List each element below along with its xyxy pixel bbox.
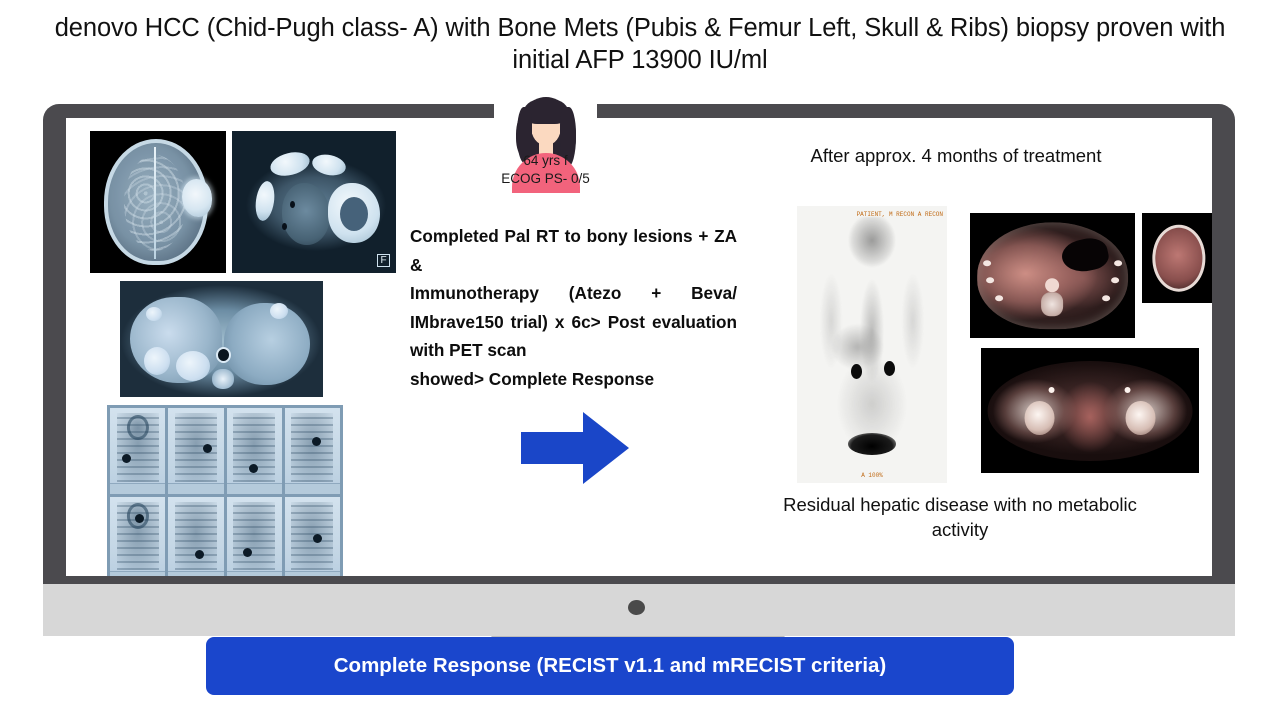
liver-vertebra <box>212 369 234 389</box>
patient-ecog-ps: ECOG PS- 0/5 <box>494 170 597 188</box>
residual-disease-label: Residual hepatic disease with no metabol… <box>776 493 1144 543</box>
pelvic-ct-image: F <box>232 131 396 273</box>
hepatic-lesion <box>146 307 162 321</box>
ct-orientation-marker: F <box>377 254 390 267</box>
patient-age-sex: 64 yrs f <box>494 152 597 170</box>
treatment-summary: Completed Pal RT to bony lesions + ZA & … <box>410 222 737 393</box>
ct-soft-tissue <box>282 183 330 245</box>
petct-brain-image <box>1142 213 1212 303</box>
ct-pubic-bone-right <box>268 148 312 179</box>
pet-annotation-bottom: A 100% <box>861 472 883 479</box>
ct-vessel-marker <box>290 201 295 208</box>
bone-scan-grid-image <box>107 405 343 576</box>
monitor-screen: F <box>66 118 1212 576</box>
treatment-line-3: showed> Complete Response <box>410 365 737 394</box>
ct-iliac-bone <box>253 180 276 222</box>
hepatic-lesion <box>144 347 170 375</box>
femoral-head-right <box>1126 401 1156 435</box>
pet-bladder-uptake <box>848 433 896 455</box>
bone-scan-cell <box>227 408 282 494</box>
bone-scan-cell <box>285 408 340 494</box>
ct-vessel-marker <box>282 223 287 230</box>
bone-scan-cell <box>285 497 340 577</box>
petct-liver-body <box>977 222 1129 330</box>
patient-avatar-card: 64 yrs f ECOG PS- 0/5 <box>494 89 597 193</box>
petct-liver-image <box>970 213 1135 338</box>
ct-pubic-bone-left <box>310 152 347 179</box>
brain-midline <box>154 147 156 259</box>
monitor-bezel: F <box>43 104 1235 584</box>
monitor-power-indicator[interactable] <box>628 600 645 615</box>
bone-scan-cell <box>168 408 223 494</box>
bone-scan-cell <box>227 497 282 577</box>
liver-left-lobe <box>224 303 310 385</box>
femoral-head-left <box>1024 401 1054 435</box>
petct-pelvis-image <box>981 348 1199 473</box>
bone-scan-cell <box>110 408 165 494</box>
liver-aorta <box>216 347 231 363</box>
hepatic-lesion <box>176 351 210 381</box>
after-treatment-label: After approx. 4 months of treatment <box>746 145 1166 167</box>
petct-pelvis-body <box>988 361 1193 461</box>
pet-annotation-top: PATIENT, M RECON A RECON <box>857 210 943 219</box>
treatment-line-2: Immunotherapy (Atezo + Beva/ IMbrave150 … <box>410 279 737 365</box>
ct-femur-lesion <box>328 183 380 243</box>
petct-brain-body <box>1152 225 1205 292</box>
page-title: denovo HCC (Chid-Pugh class- A) with Bon… <box>50 12 1230 76</box>
skull-lesion-marker <box>182 179 212 217</box>
pet-kidney-uptake <box>884 361 895 376</box>
monitor-graphic: F <box>43 104 1235 636</box>
bone-scan-cell <box>168 497 223 577</box>
petct-aorta <box>1045 279 1059 293</box>
pet-mip-image: PATIENT, M RECON A RECON A 100% <box>797 206 947 483</box>
treatment-line-1: Completed Pal RT to bony lesions + ZA & <box>410 222 737 279</box>
right-arrow-icon <box>521 412 629 484</box>
slide-root: denovo HCC (Chid-Pugh class- A) with Bon… <box>0 0 1280 720</box>
brain-mri-image <box>90 131 226 273</box>
bone-scan-cell <box>110 497 165 577</box>
gastric-air <box>1059 235 1110 276</box>
petct-vertebra <box>1041 293 1063 317</box>
pet-kidney-uptake <box>851 364 862 379</box>
conclusion-banner: Complete Response (RECIST v1.1 and mRECI… <box>206 637 1014 695</box>
hepatic-lesion <box>270 303 288 319</box>
liver-mri-image <box>120 281 323 397</box>
bone-scan-grid <box>107 405 343 576</box>
patient-info-text: 64 yrs f ECOG PS- 0/5 <box>494 152 597 188</box>
